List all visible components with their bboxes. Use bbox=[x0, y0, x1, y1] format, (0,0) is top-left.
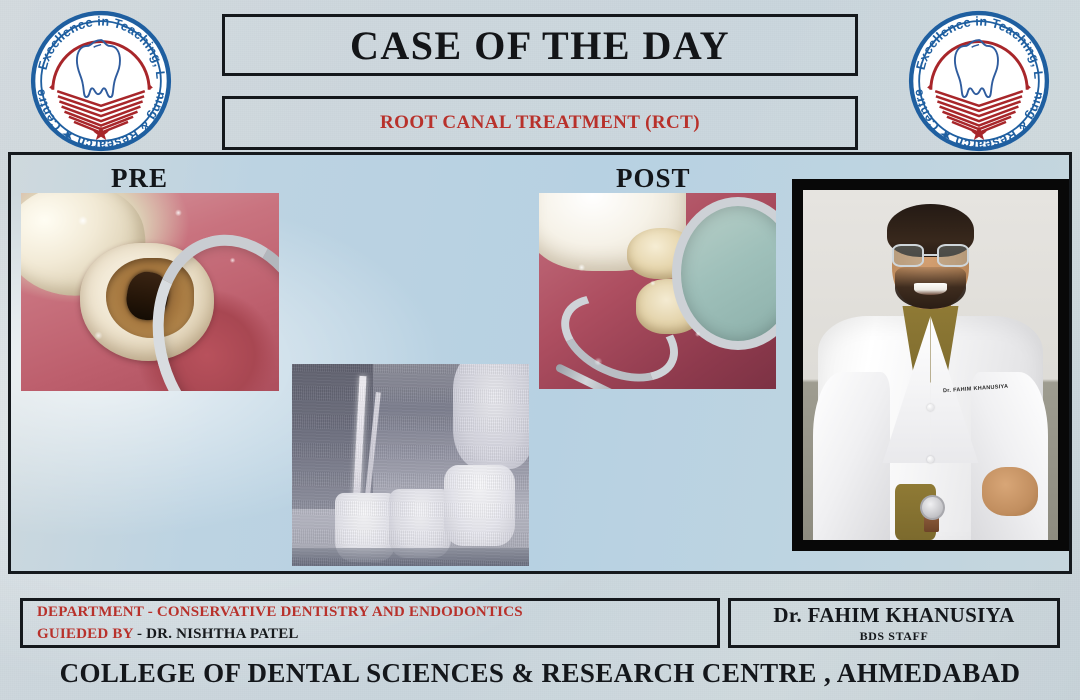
post-photo-art bbox=[539, 193, 776, 389]
watch-face bbox=[920, 495, 945, 521]
doctor-portrait: Dr. FAHIM KHANUSIYA bbox=[803, 190, 1058, 540]
coat-button-2 bbox=[927, 456, 934, 463]
periapical-radiograph bbox=[292, 364, 529, 566]
case-image-panel: PRE POST bbox=[8, 152, 1072, 574]
emblem-icon: Excellence in Teaching, Lear ning & Rese… bbox=[906, 8, 1052, 154]
title-box: CASE OF THE DAY bbox=[222, 14, 858, 76]
college-logo-right: Excellence in Teaching, Lear ning & Rese… bbox=[906, 8, 1052, 154]
college-name: COLLEGE OF DENTAL SCIENCES & RESEARCH CE… bbox=[0, 658, 1080, 689]
page-title: CASE OF THE DAY bbox=[350, 22, 730, 69]
emblem-icon: Excellence in Teaching, Lear ning & Rese… bbox=[28, 8, 174, 154]
subtitle-box: ROOT CANAL TREATMENT (RCT) bbox=[222, 96, 858, 150]
saliva-highlights bbox=[21, 193, 279, 391]
glasses-bridge bbox=[924, 254, 936, 256]
department-box: DEPARTMENT - CONSERVATIVE DENTISTRY AND … bbox=[20, 598, 720, 648]
lens-right bbox=[937, 244, 969, 267]
pre-photo-art bbox=[21, 193, 279, 391]
college-logo-left: Excellence in Teaching, Lear ning & Rese… bbox=[28, 8, 174, 154]
doctor-role: BDS STAFF bbox=[860, 629, 929, 644]
guide-label: GUIEDED BY bbox=[37, 626, 133, 642]
stage-label-pre: PRE bbox=[111, 163, 168, 194]
film-grain bbox=[292, 364, 529, 566]
doctor-name: Dr. FAHIM KHANUSIYA bbox=[773, 603, 1014, 628]
poster-canvas: Excellence in Teaching, Lear ning & Rese… bbox=[0, 0, 1080, 700]
stage-label-post: POST bbox=[616, 163, 691, 194]
case-subtitle: ROOT CANAL TREATMENT (RCT) bbox=[380, 112, 700, 134]
saliva-highlights bbox=[539, 193, 776, 389]
eyeglasses-icon bbox=[892, 244, 969, 267]
guide-name: - DR. NISHTHA PATEL bbox=[137, 626, 299, 642]
wristwatch-icon bbox=[913, 495, 951, 530]
hands bbox=[982, 467, 1038, 516]
post-operative-photo bbox=[539, 193, 776, 389]
left-arm bbox=[813, 372, 890, 540]
doctor-credit-box: Dr. FAHIM KHANUSIYA BDS STAFF bbox=[728, 598, 1060, 648]
lens-left bbox=[892, 244, 924, 267]
coat-button-1 bbox=[927, 404, 934, 411]
doctor-portrait-frame: Dr. FAHIM KHANUSIYA bbox=[792, 179, 1069, 551]
department-line: DEPARTMENT - CONSERVATIVE DENTISTRY AND … bbox=[37, 601, 703, 624]
radiograph-art bbox=[292, 364, 529, 566]
guide-line: GUIEDED BY - DR. NISHTHA PATEL bbox=[37, 623, 703, 646]
pre-operative-photo bbox=[21, 193, 279, 391]
